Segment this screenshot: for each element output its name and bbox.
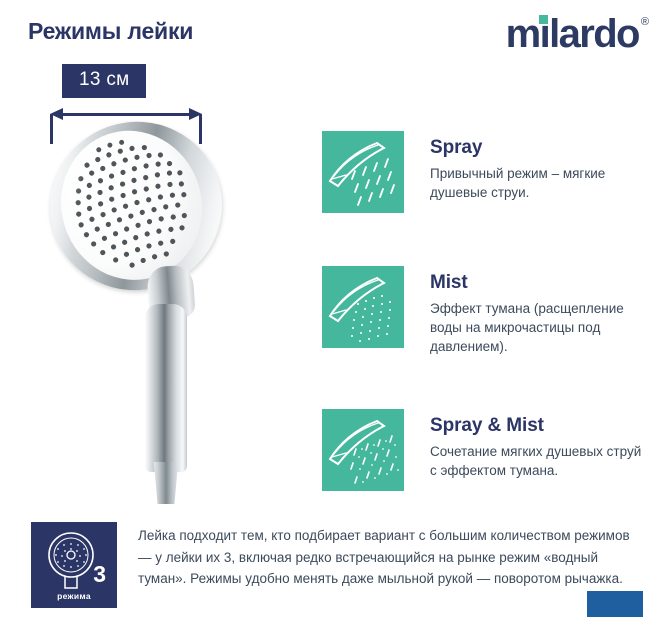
feature-title: Spray & Mist (430, 415, 645, 437)
spray-icon (322, 131, 404, 213)
registered-trademark-symbol: ® (641, 15, 649, 29)
feature-title: Spray (430, 137, 645, 159)
modes-badge: 3 режима (31, 522, 117, 608)
dimension-label: 13 см (62, 64, 146, 98)
logo-wordmark: milardo (506, 12, 639, 56)
summary-text: Лейка подходит тем, кто подбирает вариан… (138, 525, 638, 590)
mist-icon (322, 266, 404, 348)
feature-title: Mist (430, 272, 645, 294)
feature-description: Привычный режим – мягкие душевые струи. (430, 164, 645, 202)
feature-item-spray-mist: Spray & Mist Сочетание мягких душевых ст… (322, 409, 662, 491)
feature-item-mist: Mist Эффект тумана (расщепление воды на … (322, 266, 662, 356)
nozzle-holes-icon (42, 112, 222, 298)
feature-list: Spray Привычный режим – мягкие душевые с… (322, 131, 662, 544)
modes-count: 3 (93, 563, 106, 586)
shower-head-face (42, 112, 222, 298)
feature-text-spray: Spray Привычный режим – мягкие душевые с… (430, 131, 645, 202)
feature-text-mist: Mist Эффект тумана (расщепление воды на … (430, 266, 645, 356)
feature-description: Сочетание мягких душевых струй с эффекто… (430, 442, 645, 480)
feature-description: Эффект тумана (расщепление воды на микро… (430, 299, 645, 356)
feature-text-spray-mist: Spray & Mist Сочетание мягких душевых ст… (430, 409, 645, 480)
milardo-logo: milardo ® (506, 12, 649, 58)
spray-mist-icon (322, 409, 404, 491)
shower-head-disc (28, 100, 243, 313)
modes-label: режима (31, 591, 117, 601)
shower-hose-connector (152, 462, 180, 504)
page-title: Режимы лейки (28, 18, 193, 45)
feature-item-spray: Spray Привычный режим – мягкие душевые с… (322, 131, 662, 213)
corner-accent-block (587, 591, 643, 617)
logo-green-dot-icon (539, 15, 548, 24)
shower-head-image (44, 118, 259, 508)
shower-handle (145, 304, 187, 472)
